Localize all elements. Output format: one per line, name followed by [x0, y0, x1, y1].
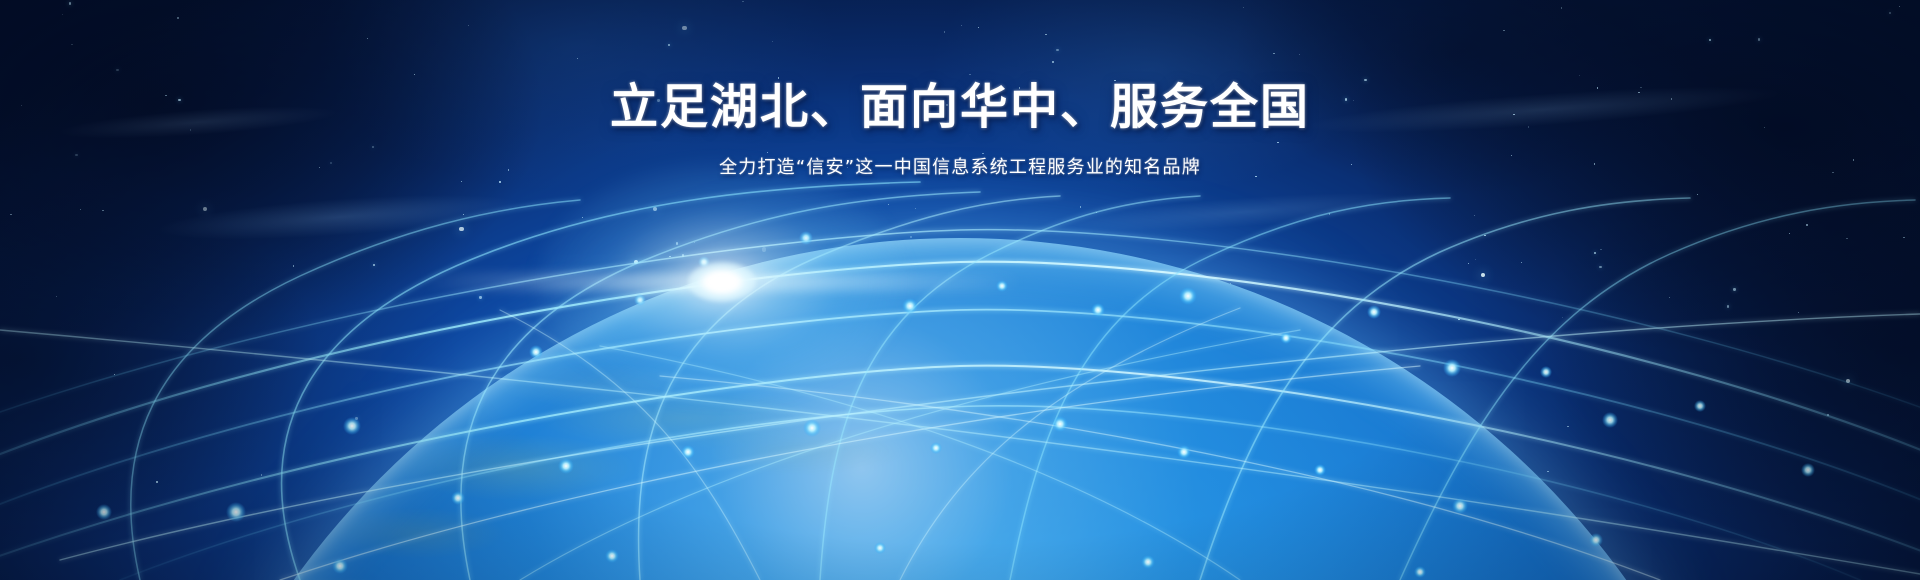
- hero-banner: 立足湖北、面向华中、服务全国 全力打造“信安”这一中国信息系统工程服务业的知名品…: [0, 0, 1920, 580]
- banner-headline: 立足湖北、面向华中、服务全国: [0, 78, 1920, 137]
- banner-text-block: 立足湖北、面向华中、服务全国 全力打造“信安”这一中国信息系统工程服务业的知名品…: [0, 78, 1920, 180]
- banner-subheadline: 全力打造“信安”这一中国信息系统工程服务业的知名品牌: [0, 155, 1920, 180]
- flare-core: [688, 262, 756, 302]
